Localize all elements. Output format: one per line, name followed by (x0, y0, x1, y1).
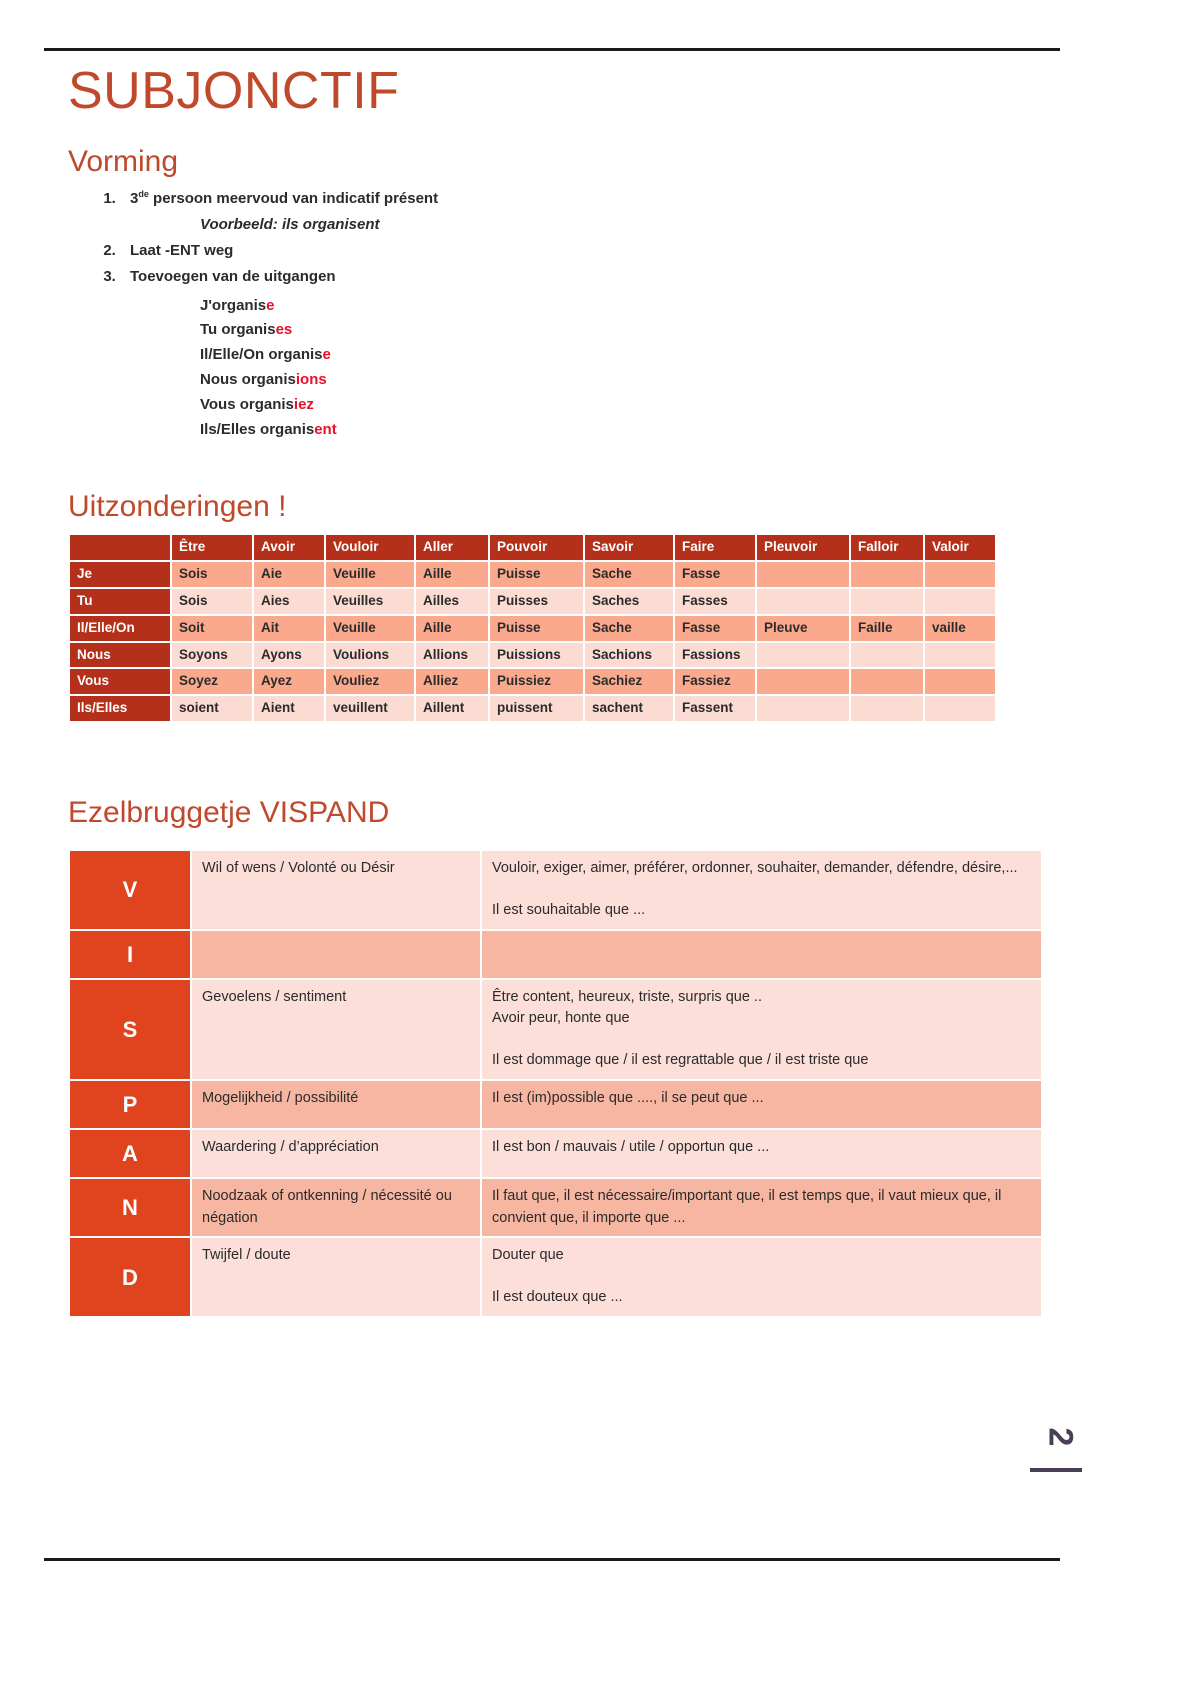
exceptions-cell: Soit (172, 616, 252, 641)
exceptions-cell: Fassions (675, 643, 755, 668)
conjugation-line: Tu organises (200, 318, 1068, 343)
exceptions-cell (925, 696, 995, 721)
page-number-rule (1030, 1468, 1082, 1472)
page-title: SUBJONCTIF (68, 60, 1068, 122)
vispand-desc-line: Douter que (492, 1245, 1031, 1267)
vispand-description-cell: Être content, heureux, triste, surpris q… (482, 980, 1041, 1079)
exceptions-header-row: ÊtreAvoirVouloirAllerPouvoirSavoirFaireP… (70, 535, 995, 560)
exceptions-column-header: Vouloir (326, 535, 414, 560)
exceptions-cell: veuillent (326, 696, 414, 721)
exceptions-cell: Veuilles (326, 589, 414, 614)
exceptions-column-header: Falloir (851, 535, 923, 560)
vispand-letter-cell: D (70, 1238, 190, 1316)
exceptions-cell (757, 562, 849, 587)
section-heading-vorming: Vorming (68, 144, 1068, 180)
exceptions-cell: Puisses (490, 589, 583, 614)
conjugation-line: J'organise (200, 294, 1068, 319)
vorming-step-1: 3de persoon meervoud van indicatif prése… (120, 186, 1068, 238)
exceptions-column-header: Être (172, 535, 252, 560)
vorming-step-1-label: 3de persoon meervoud van indicatif prése… (130, 190, 438, 207)
section-heading-vispand: Ezelbruggetje VISPAND (68, 795, 1068, 831)
vorming-step-3: Toevoegen van de uitgangen J'organiseTu … (120, 264, 1068, 443)
exceptions-cell: Ayons (254, 643, 324, 668)
vispand-desc-line: Vouloir, exiger, aimer, préférer, ordonn… (492, 858, 1031, 880)
exceptions-table: ÊtreAvoirVouloirAllerPouvoirSavoirFaireP… (68, 533, 997, 723)
vispand-description-cell: Vouloir, exiger, aimer, préférer, ordonn… (482, 851, 1041, 929)
exceptions-cell: Ait (254, 616, 324, 641)
table-row: DTwijfel / douteDouter queIl est douteux… (70, 1238, 1041, 1316)
conjugation-ending: es (276, 321, 293, 338)
exceptions-cell: Saches (585, 589, 673, 614)
exceptions-column-header: Valoir (925, 535, 995, 560)
exceptions-cell: Puisse (490, 562, 583, 587)
exceptions-cell (851, 643, 923, 668)
vispand-letter-cell: P (70, 1081, 190, 1128)
exceptions-cell: Allions (416, 643, 488, 668)
exceptions-cell: Aies (254, 589, 324, 614)
vispand-desc-line: Il est bon / mauvais / utile / opportun … (492, 1137, 1031, 1159)
vispand-letter-cell: N (70, 1179, 190, 1237)
exceptions-cell: puissent (490, 696, 583, 721)
table-row: SGevoelens / sentimentÊtre content, heur… (70, 980, 1041, 1079)
exceptions-cell: soient (172, 696, 252, 721)
exceptions-corner-cell (70, 535, 170, 560)
exceptions-column-header: Avoir (254, 535, 324, 560)
exceptions-row-header: Je (70, 562, 170, 587)
vispand-letter-cell: S (70, 980, 190, 1079)
exceptions-column-header: Faire (675, 535, 755, 560)
vispand-description-cell: Douter queIl est douteux que ... (482, 1238, 1041, 1316)
conjugation-stem: Tu organis (200, 321, 276, 338)
exceptions-cell: Sois (172, 589, 252, 614)
vorming-step-2-label: Laat -ENT weg (130, 242, 233, 259)
exceptions-cell: Fassent (675, 696, 755, 721)
document-content: SUBJONCTIF Vorming 3de persoon meervoud … (68, 60, 1068, 1318)
conjugation-line: Vous organisiez (200, 393, 1068, 418)
exceptions-cell: Sois (172, 562, 252, 587)
exceptions-cell (851, 696, 923, 721)
exceptions-row-header: Tu (70, 589, 170, 614)
exceptions-cell (925, 669, 995, 694)
exceptions-cell: Aille (416, 616, 488, 641)
table-row: PMogelijkheid / possibilitéIl est (im)po… (70, 1081, 1041, 1128)
vispand-desc-line: Il est souhaitable que ... (492, 900, 1031, 922)
exceptions-cell: Soyez (172, 669, 252, 694)
conjugation-ending: e (323, 346, 331, 363)
vispand-category-cell: Mogelijkheid / possibilité (192, 1081, 480, 1128)
table-row: NNoodzaak of ontkenning / nécessité ou n… (70, 1179, 1041, 1237)
exceptions-row-header: Il/Elle/On (70, 616, 170, 641)
ordinal-suffix: de (138, 189, 149, 199)
table-row: VousSoyezAyezVouliezAlliezPuissiezSachie… (70, 669, 995, 694)
exceptions-cell: Faille (851, 616, 923, 641)
page-number: 2 (1043, 1428, 1077, 1447)
conjugation-stem: Il/Elle/On organis (200, 346, 323, 363)
exceptions-cell: Voulions (326, 643, 414, 668)
vispand-category-cell (192, 931, 480, 978)
exceptions-cell: Aie (254, 562, 324, 587)
table-row: JeSoisAieVeuilleAillePuisseSacheFasse (70, 562, 995, 587)
exceptions-cell: Puissiez (490, 669, 583, 694)
exceptions-cell: Aient (254, 696, 324, 721)
exceptions-cell: Ailles (416, 589, 488, 614)
exceptions-row-header: Vous (70, 669, 170, 694)
exceptions-cell: Sache (585, 616, 673, 641)
exceptions-column-header: Pleuvoir (757, 535, 849, 560)
vispand-desc-line: Avoir peur, honte que (492, 1008, 1031, 1030)
exceptions-cell (757, 669, 849, 694)
exceptions-cell (757, 643, 849, 668)
exceptions-cell: vaille (925, 616, 995, 641)
conjugation-stem: Vous organis (200, 396, 294, 413)
vispand-category-cell: Gevoelens / sentiment (192, 980, 480, 1079)
exceptions-cell: Puissions (490, 643, 583, 668)
exceptions-cell: sachent (585, 696, 673, 721)
vispand-category-cell: Wil of wens / Volonté ou Désir (192, 851, 480, 929)
exceptions-column-header: Aller (416, 535, 488, 560)
vorming-example: Voorbeeld: ils organisent (200, 212, 1068, 238)
vorming-example-prefix: Voorbeeld: (200, 216, 282, 233)
exceptions-cell: Veuille (326, 562, 414, 587)
conjugation-ending: ions (296, 371, 327, 388)
vispand-table-body: VWil of wens / Volonté ou DésirVouloir, … (70, 851, 1041, 1316)
conjugation-ending: ent (314, 421, 337, 438)
vispand-description-cell (482, 931, 1041, 978)
vispand-letter-cell: I (70, 931, 190, 978)
conjugation-list: J'organiseTu organisesIl/Elle/On organis… (200, 294, 1068, 443)
exceptions-cell (851, 669, 923, 694)
exceptions-cell (925, 589, 995, 614)
vispand-letter-cell: V (70, 851, 190, 929)
header-rule (44, 48, 1060, 51)
exceptions-cell (851, 562, 923, 587)
vispand-table: VWil of wens / Volonté ou DésirVouloir, … (68, 849, 1043, 1318)
exceptions-cell: Veuille (326, 616, 414, 641)
section-heading-exceptions: Uitzonderingen ! (68, 489, 1068, 525)
document-page: SUBJONCTIF Vorming 3de persoon meervoud … (0, 0, 1200, 1700)
vorming-step-2: Laat -ENT weg (120, 238, 1068, 264)
exceptions-table-body: JeSoisAieVeuilleAillePuisseSacheFasseTuS… (70, 562, 995, 721)
vorming-step-3-label: Toevoegen van de uitgangen (130, 268, 336, 285)
exceptions-cell: Fasse (675, 562, 755, 587)
table-row: Il/Elle/OnSoitAitVeuilleAillePuisseSache… (70, 616, 995, 641)
exceptions-cell: Aille (416, 562, 488, 587)
exceptions-cell: Sache (585, 562, 673, 587)
conjugation-stem: Nous organis (200, 371, 296, 388)
exceptions-cell: Puisse (490, 616, 583, 641)
exceptions-cell (851, 589, 923, 614)
page-number-block: 2 (1030, 1420, 1090, 1472)
exceptions-cell: Sachions (585, 643, 673, 668)
conjugation-line: Ils/Elles organisent (200, 418, 1068, 443)
conjugation-ending: iez (294, 396, 314, 413)
exceptions-cell: Ayez (254, 669, 324, 694)
conjugation-ending: e (266, 297, 274, 314)
table-row: I (70, 931, 1041, 978)
table-row: Ils/EllessoientAientveuillentAillentpuis… (70, 696, 995, 721)
exceptions-cell: Aillent (416, 696, 488, 721)
vispand-desc-line: Il est douteux que ... (492, 1287, 1031, 1309)
vispand-category-cell: Twijfel / doute (192, 1238, 480, 1316)
vispand-description-cell: Il est bon / mauvais / utile / opportun … (482, 1130, 1041, 1177)
table-row: VWil of wens / Volonté ou DésirVouloir, … (70, 851, 1041, 929)
vispand-letter-cell: A (70, 1130, 190, 1177)
exceptions-cell (925, 643, 995, 668)
conjugation-line: Nous organisions (200, 368, 1068, 393)
vorming-steps-list: 3de persoon meervoud van indicatif prése… (68, 186, 1068, 443)
table-row: TuSoisAiesVeuillesAillesPuissesSachesFas… (70, 589, 995, 614)
exceptions-row-header: Nous (70, 643, 170, 668)
table-row: NousSoyonsAyonsVoulionsAllionsPuissionsS… (70, 643, 995, 668)
vispand-desc-line: Il est (im)possible que ...., il se peut… (492, 1088, 1031, 1110)
conjugation-line: Il/Elle/On organise (200, 343, 1068, 368)
vispand-description-cell: Il faut que, il est nécessaire/important… (482, 1179, 1041, 1237)
vorming-example-value: ils organisent (282, 216, 380, 233)
exceptions-cell: Fasses (675, 589, 755, 614)
exceptions-cell: Fasse (675, 616, 755, 641)
table-row: AWaardering / d’appréciationIl est bon /… (70, 1130, 1041, 1177)
vispand-description-cell: Il est (im)possible que ...., il se peut… (482, 1081, 1041, 1128)
exceptions-cell: Alliez (416, 669, 488, 694)
exceptions-cell: Sachiez (585, 669, 673, 694)
exceptions-column-header: Pouvoir (490, 535, 583, 560)
exceptions-row-header: Ils/Elles (70, 696, 170, 721)
vispand-desc-line: Il faut que, il est nécessaire/important… (492, 1186, 1031, 1230)
exceptions-column-header: Savoir (585, 535, 673, 560)
footer-rule (44, 1558, 1060, 1561)
exceptions-cell (757, 589, 849, 614)
vispand-category-cell: Noodzaak of ontkenning / nécessité ou né… (192, 1179, 480, 1237)
vispand-desc-line: Il est dommage que / il est regrattable … (492, 1050, 1031, 1072)
vispand-category-cell: Waardering / d’appréciation (192, 1130, 480, 1177)
exceptions-cell: Soyons (172, 643, 252, 668)
conjugation-stem: Ils/Elles organis (200, 421, 314, 438)
exceptions-cell (925, 562, 995, 587)
vispand-desc-line: Être content, heureux, triste, surpris q… (492, 987, 1031, 1009)
exceptions-cell (757, 696, 849, 721)
exceptions-cell: Fassiez (675, 669, 755, 694)
conjugation-stem: J'organis (200, 297, 266, 314)
exceptions-cell: Pleuve (757, 616, 849, 641)
exceptions-cell: Vouliez (326, 669, 414, 694)
exceptions-table-head: ÊtreAvoirVouloirAllerPouvoirSavoirFaireP… (70, 535, 995, 560)
